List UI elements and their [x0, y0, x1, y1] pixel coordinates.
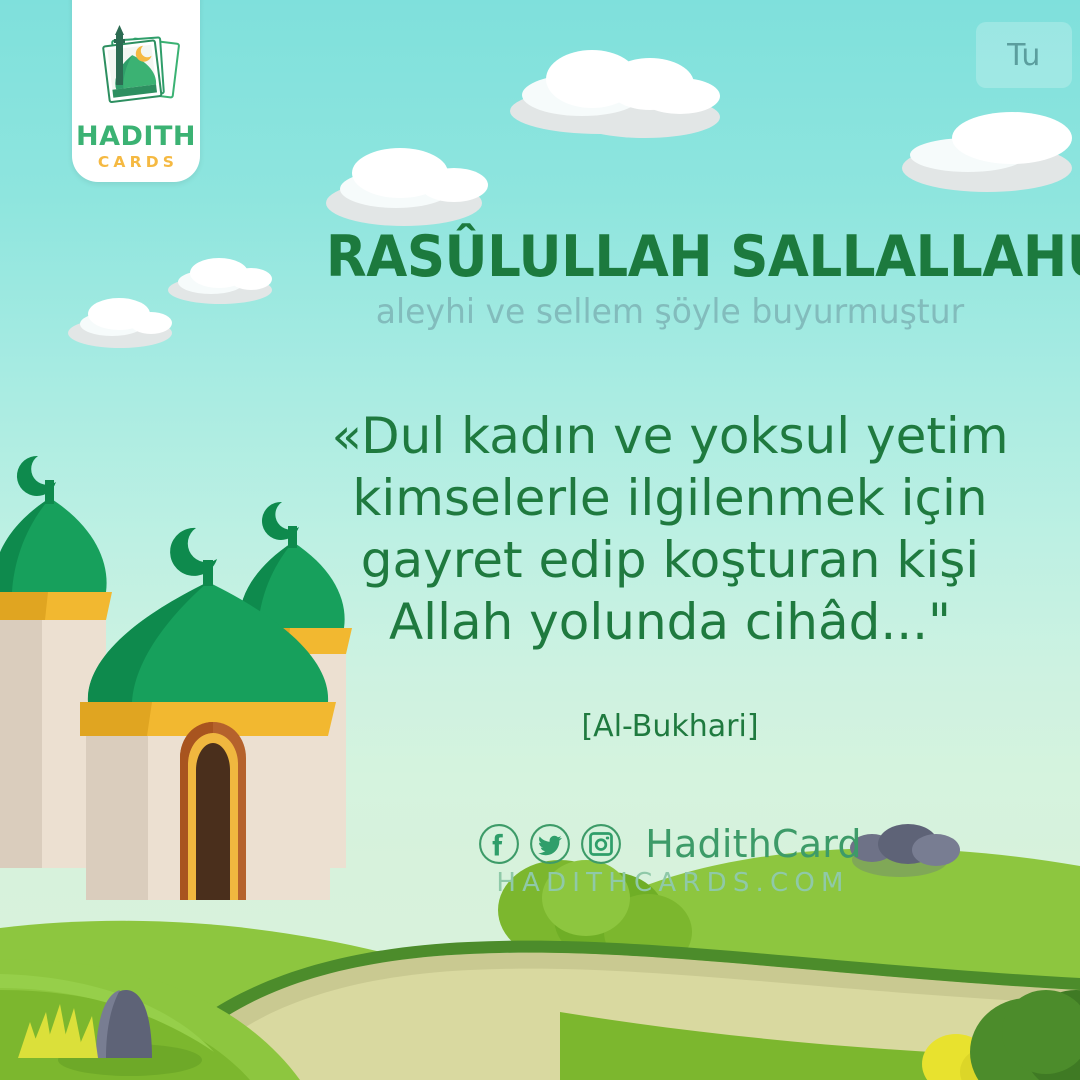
- hadith-quote-text: «Dul kadın ve yoksul yetim kimselerle il…: [300, 405, 1040, 653]
- hadith-card: HADITH CARDS Tu RASÛLULLAH SALLALLAHU al…: [0, 0, 1080, 1080]
- cloud-upper-left: [326, 148, 496, 228]
- cloud-small-left-upper: [168, 258, 278, 306]
- card-footer: HadithCard HADITHCARDS.COM: [300, 822, 1040, 898]
- hadith-source: [Al-Bukhari]: [300, 709, 1040, 744]
- cloud-top-center: [510, 48, 720, 138]
- page-subtitle: aleyhi ve sellem şöyle buyurmuştur: [311, 294, 1029, 331]
- language-badge[interactable]: Tu: [976, 22, 1072, 88]
- page-title: RASÛLULLAH SALLALLAHU: [326, 228, 1014, 288]
- brand-handle: HadithCard: [645, 822, 861, 866]
- logo-text-hadith: HADITH: [76, 123, 196, 150]
- instagram-icon[interactable]: [580, 823, 622, 865]
- brand-website: HADITHCARDS.COM: [306, 868, 1040, 898]
- facebook-icon[interactable]: [478, 823, 520, 865]
- brand-logo-tab[interactable]: HADITH CARDS: [72, 0, 200, 182]
- twitter-icon[interactable]: [529, 823, 571, 865]
- card-content: RASÛLULLAH SALLALLAHU aleyhi ve sellem ş…: [300, 228, 1040, 744]
- logo-text-cards: CARDS: [98, 155, 178, 171]
- cloud-right: [902, 112, 1080, 196]
- cloud-small-left-lower: [68, 298, 178, 348]
- hadith-cards-logo-icon: [84, 25, 188, 121]
- social-links-row: HadithCard: [300, 822, 1040, 866]
